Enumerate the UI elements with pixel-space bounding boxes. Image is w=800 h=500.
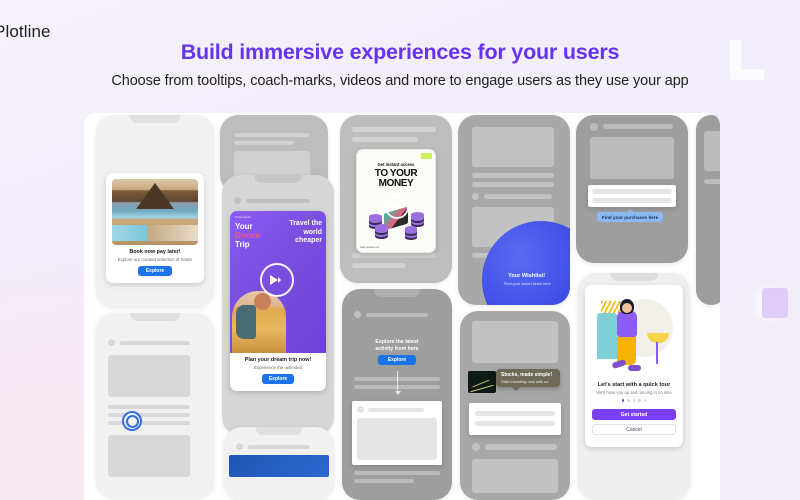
phone-notch (254, 175, 301, 183)
travel-card[interactable]: Travel agents Your Dream Trip Travel the… (230, 211, 326, 391)
coachmark-pulse-ring[interactable] (122, 411, 142, 431)
highlighted-content-card[interactable] (352, 401, 442, 465)
get-started-button[interactable]: Get started (592, 409, 676, 420)
onboarding-surface: Let's start with a quick tour We'll have… (585, 285, 683, 447)
onboarding-pager-dots[interactable] (585, 399, 683, 402)
page-subtitle: Choose from tooltips, coach-marks, video… (0, 73, 800, 89)
activity-explore-button[interactable]: Explore (378, 355, 416, 365)
money-poster: Get instant access TO YOUR MONEY www.you… (357, 150, 435, 252)
image-placeholder (472, 321, 558, 363)
travel-explore-button[interactable]: Explore (262, 374, 294, 384)
image-placeholder (704, 131, 720, 171)
travel-poster: Travel agents Your Dream Trip Travel the… (230, 211, 326, 353)
text-placeholder (352, 127, 436, 132)
text-placeholder (475, 421, 555, 426)
onboarding-card[interactable]: Let's start with a quick tour We'll have… (585, 285, 683, 447)
image-placeholder (108, 355, 190, 397)
phone-skeleton-blue[interactable] (224, 427, 334, 500)
pager-dot[interactable] (622, 399, 625, 402)
text-placeholder (352, 263, 406, 268)
phone-onboarding[interactable]: Let's start with a quick tour We'll have… (578, 273, 690, 500)
tooltip-arrow-icon (512, 387, 520, 391)
text-placeholder (248, 445, 310, 449)
text-placeholder (485, 444, 557, 450)
travel-poster-line1: Your (235, 222, 253, 231)
phone-notch (130, 115, 180, 123)
image-placeholder (472, 459, 558, 493)
text-placeholder (352, 137, 418, 142)
avatar-placeholder (108, 339, 115, 346)
money-poster-headline-2: MONEY (357, 178, 435, 189)
showcase-panel: Book now pay later! Explore our curated … (84, 113, 720, 500)
stock-chart-thumbnail (468, 371, 496, 393)
travel-poster-tagline: Travel the world cheaper (276, 220, 322, 246)
promo-banner (229, 455, 329, 477)
text-placeholder (704, 179, 720, 184)
phone-coachmark-skeleton[interactable] (96, 313, 214, 498)
person-shoe-right (628, 365, 641, 371)
onboarding-subtitle: We'll have you up and running in no time (585, 390, 683, 395)
purchases-tooltip[interactable]: Find your purchases here (597, 212, 663, 222)
coin-stack-icon (375, 224, 388, 233)
onboarding-title: Let's start with a quick tour (585, 382, 683, 388)
text-placeholder (108, 413, 190, 417)
money-poster-kicker: Get instant access (357, 162, 435, 167)
avatar-placeholder (354, 311, 361, 318)
text-placeholder (368, 408, 424, 412)
phone-hotel[interactable]: Book now pay later! Explore our curated … (96, 115, 214, 307)
text-placeholder (603, 124, 673, 129)
poster-badge (421, 153, 432, 159)
avatar-placeholder (234, 197, 241, 204)
highlighted-list-card[interactable] (588, 185, 676, 207)
travel-poster-line2: Dream (235, 231, 260, 240)
play-button-icon[interactable] (385, 195, 409, 219)
phone-money-video[interactable]: Get instant access TO YOUR MONEY www.you… (340, 115, 452, 283)
stocks-tooltip[interactable]: Stocks, made simple! Start investing now… (496, 369, 560, 387)
text-placeholder (354, 385, 440, 389)
text-placeholder (354, 471, 440, 475)
text-placeholder (592, 189, 672, 194)
phone-notch (374, 289, 420, 297)
travel-card-title: Plan your dream trip now! (230, 357, 326, 363)
travel-poster-illustration (232, 291, 286, 353)
travel-poster-line3: Trip (235, 240, 250, 249)
text-placeholder (234, 133, 310, 137)
hotel-explore-button[interactable]: Explore (138, 266, 172, 276)
hotel-card-title: Book now pay later! (106, 249, 204, 255)
stocks-tooltip-subtitle: Start investing now with us (501, 379, 555, 384)
phone-notch (256, 427, 302, 435)
text-placeholder (484, 194, 552, 199)
image-placeholder (108, 435, 190, 477)
text-placeholder (352, 253, 436, 258)
decorative-square (762, 288, 788, 318)
travel-poster-kicker: Travel agents (235, 216, 251, 219)
page-title: Build immersive experiences for your use… (0, 40, 800, 65)
cancel-button[interactable]: Cancel (592, 424, 676, 435)
image-placeholder (590, 137, 674, 179)
activity-coachmark-text: Explore the latest activity from here (342, 339, 452, 352)
pager-dot[interactable] (644, 399, 647, 402)
avatar-placeholder (590, 123, 598, 131)
person-body (617, 311, 637, 337)
text-placeholder (234, 141, 294, 145)
hotel-card[interactable]: Book now pay later! Explore our curated … (106, 173, 204, 283)
onboarding-illustration (591, 293, 677, 377)
text-placeholder (472, 173, 554, 178)
pager-dot[interactable] (638, 399, 641, 402)
money-card[interactable]: Get instant access TO YOUR MONEY www.you… (356, 149, 436, 253)
wishlist-title: Your Wishlist! (508, 273, 545, 279)
coachmark-line1: Explore the latest (375, 339, 418, 345)
hotel-photo (112, 179, 198, 245)
person-head (620, 299, 634, 314)
travel-card-subtitle: Experience the unlimited (230, 365, 326, 370)
phone-notch (130, 313, 180, 321)
phone-wishlist[interactable]: Your Wishlist! Find your saved items her… (458, 115, 570, 305)
image-placeholder (357, 418, 437, 460)
phone-purchases-tooltip[interactable]: Find your purchases here (576, 115, 688, 263)
play-button-icon[interactable] (260, 263, 294, 297)
person-shoe-left (611, 359, 626, 369)
text-placeholder (366, 313, 428, 317)
avatar-placeholder (236, 443, 243, 450)
phone-stocks-tooltip[interactable]: Stocks, made simple! Start investing now… (460, 311, 570, 500)
text-placeholder (120, 341, 190, 345)
stocks-tooltip-title: Stocks, made simple! (501, 372, 555, 378)
avatar-placeholder (472, 443, 480, 451)
image-placeholder (472, 127, 554, 167)
phone-skeleton-edge[interactable] (696, 115, 720, 305)
pager-dot[interactable] (627, 399, 630, 402)
pager-dot[interactable] (633, 399, 636, 402)
chair-illustration (597, 313, 617, 359)
text-placeholder (354, 479, 414, 483)
hotel-card-subtitle: Explore our curated selection of hotels (108, 257, 202, 262)
coachmark-line2: activity from here (375, 346, 418, 352)
text-placeholder (354, 377, 440, 381)
text-placeholder (108, 405, 190, 409)
phone-travel-video[interactable]: Travel agents Your Dream Trip Travel the… (222, 175, 334, 435)
coin-stack-icon (369, 214, 382, 223)
text-placeholder (475, 411, 555, 416)
text-placeholder (592, 198, 672, 203)
text-placeholder (246, 199, 310, 203)
brand-logo[interactable]: Plotline (0, 22, 51, 42)
phone-notch (610, 273, 657, 281)
coin-stack-icon (405, 226, 417, 234)
phone-activity-coachmark[interactable]: Explore the latest activity from here Ex… (342, 289, 452, 500)
money-poster-url: www.yoursite.com (360, 246, 379, 249)
avatar-placeholder (472, 193, 479, 200)
content-card[interactable] (469, 403, 561, 435)
text-placeholder (472, 182, 554, 187)
text-placeholder (108, 421, 190, 425)
avatar-placeholder (357, 406, 364, 413)
wishlist-subtitle: Find your saved items here (504, 281, 551, 286)
coin-stack-icon (411, 212, 424, 221)
